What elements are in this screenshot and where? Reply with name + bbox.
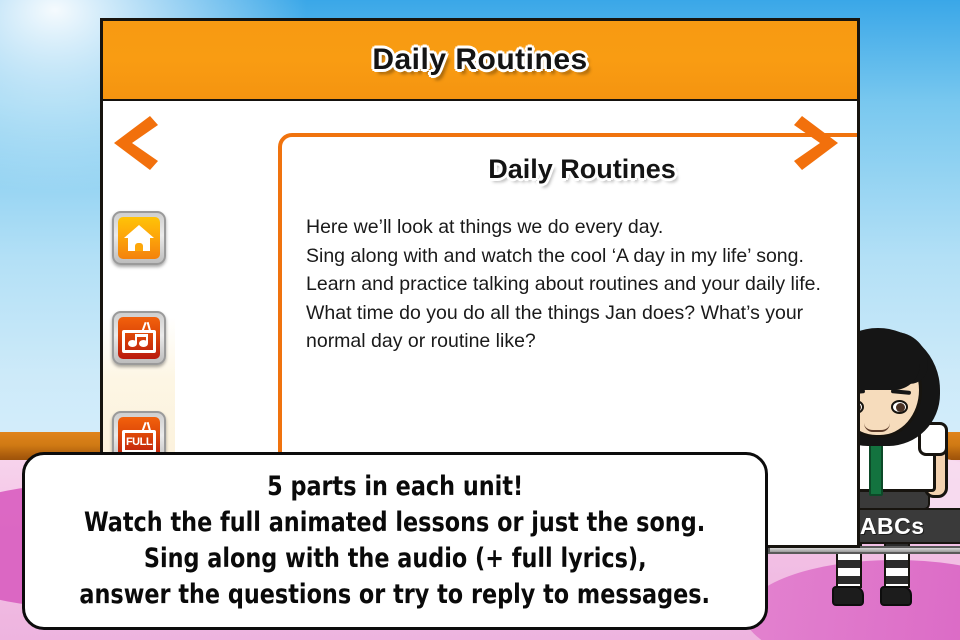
lesson-paragraph: Here we’ll look at things we do every da…	[306, 213, 858, 242]
next-page-button[interactable]	[794, 112, 840, 174]
character-pupil-right	[896, 403, 905, 412]
full-video-label: FULL	[122, 430, 156, 453]
app-screen: site The ABCs Da	[0, 0, 960, 640]
chevron-right-icon	[794, 112, 840, 174]
home-icon	[124, 225, 154, 251]
panel-header: Daily Routines	[103, 21, 857, 101]
character-shoe-left	[832, 586, 864, 606]
tutorial-callout[interactable]: 5 parts in each unit! Watch the full ani…	[22, 452, 768, 630]
lesson-paragraph: What time do you do all the things Jan d…	[306, 299, 858, 356]
lesson-paragraph: Sing along with and watch the cool ‘A da…	[306, 242, 858, 271]
character-shoe-right	[880, 586, 912, 606]
lesson-paragraph: Learn and practice talking about routine…	[306, 270, 858, 299]
song-video-button[interactable]	[112, 311, 166, 365]
tv-full-icon: FULL	[122, 423, 156, 453]
song-video-button-face	[118, 317, 160, 359]
callout-line: Watch the full animated lessons or just …	[84, 505, 705, 541]
callout-line: Sing along with the audio (+ full lyrics…	[144, 541, 647, 577]
lesson-title: Daily Routines	[282, 154, 860, 185]
page-title: Daily Routines	[103, 43, 857, 77]
home-button-face	[118, 217, 160, 259]
home-button[interactable]	[112, 211, 166, 265]
callout-line: answer the questions or try to reply to …	[80, 577, 711, 613]
callout-line: 5 parts in each unit!	[267, 469, 523, 505]
lesson-body: Here we’ll look at things we do every da…	[306, 213, 858, 356]
chevron-left-icon	[112, 112, 158, 174]
previous-page-button[interactable]	[112, 112, 158, 174]
tv-music-icon	[122, 323, 156, 353]
